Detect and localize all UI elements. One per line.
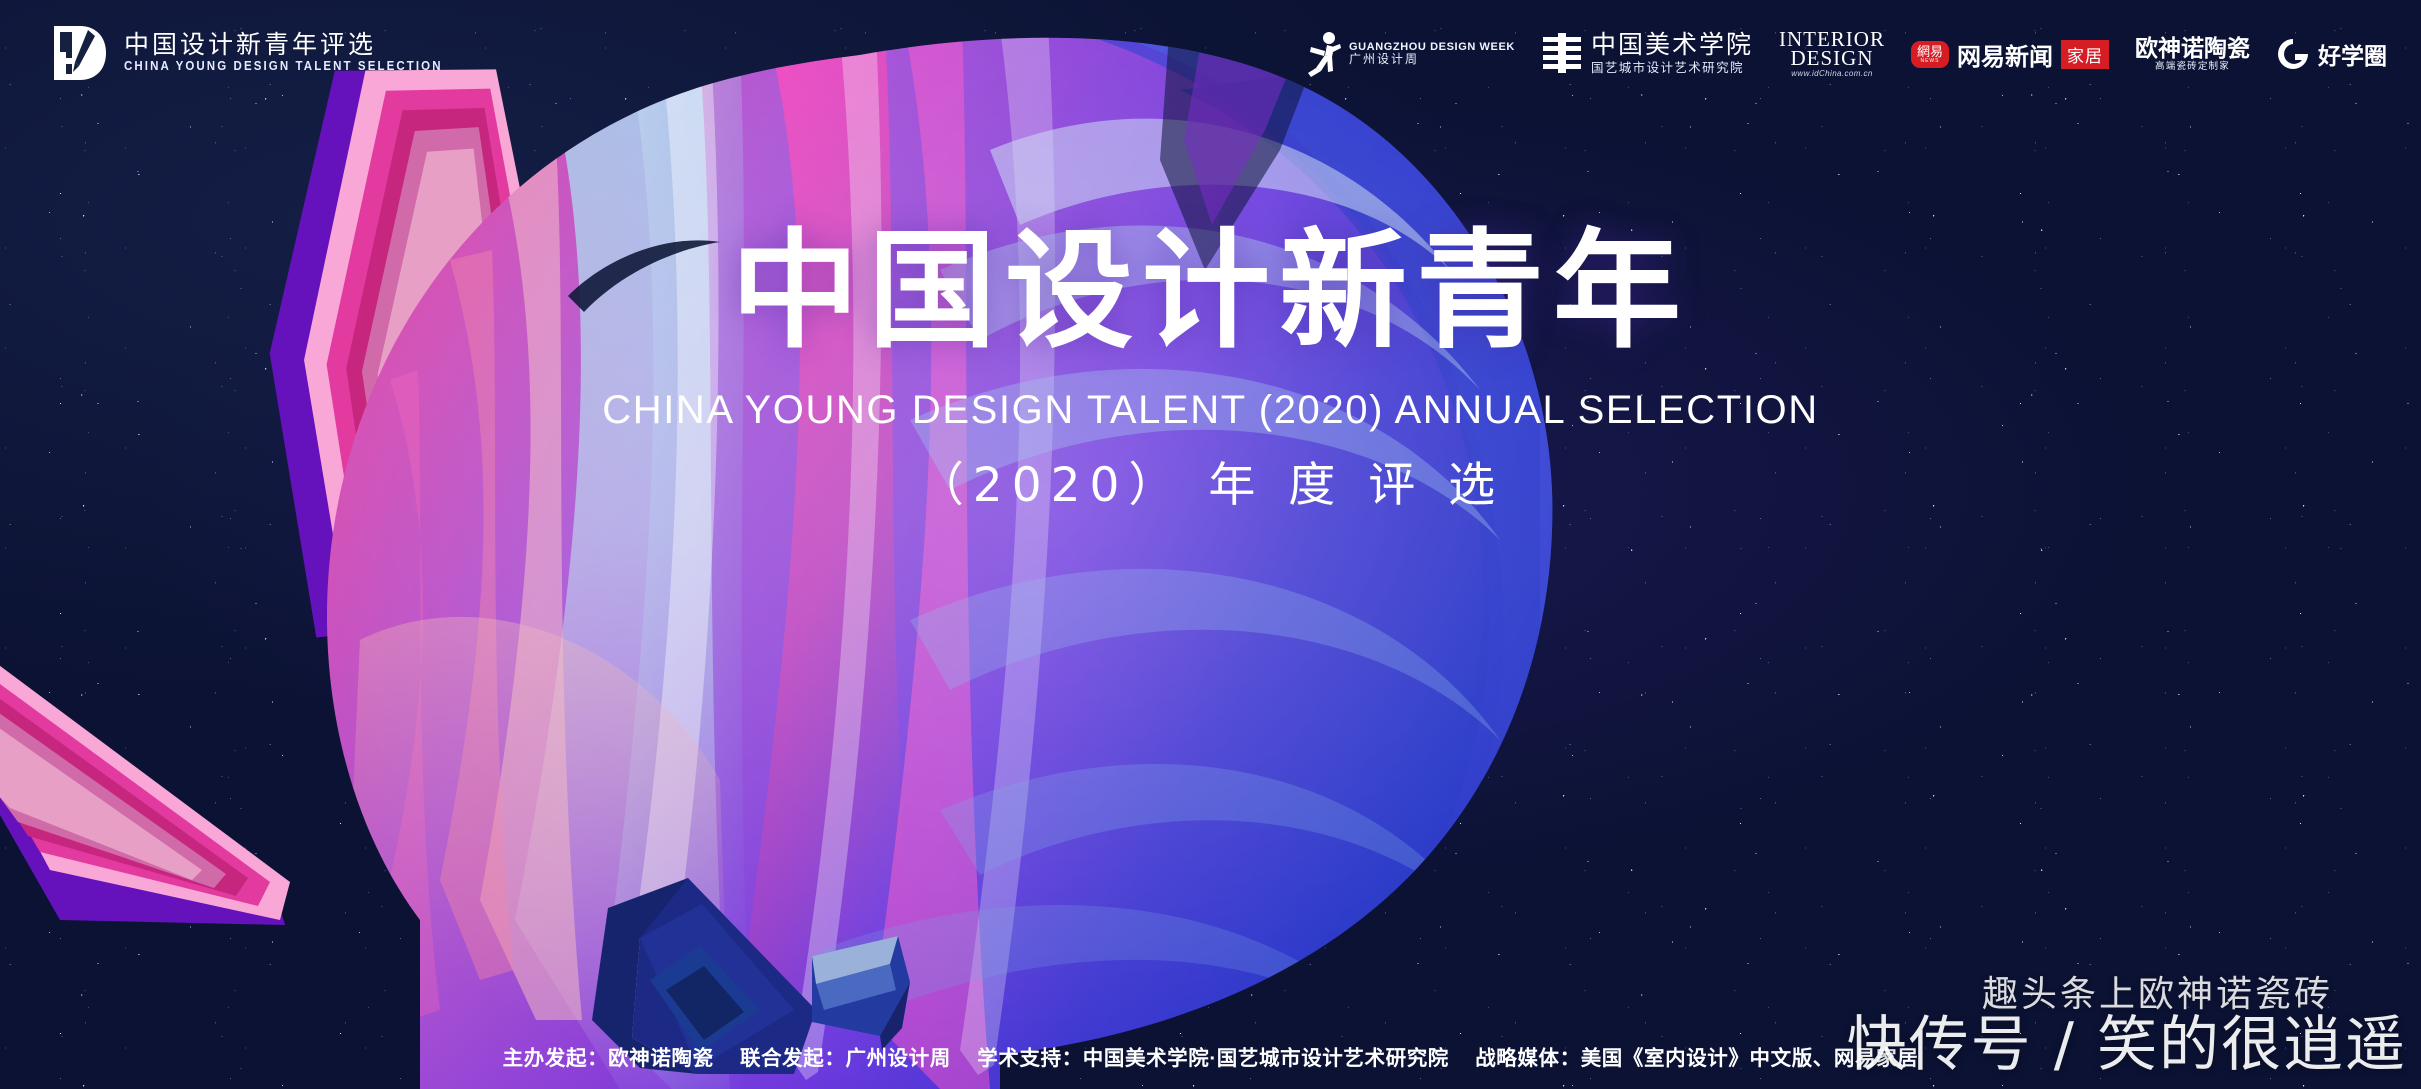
central-organic-blob	[300, 20, 1780, 1089]
brand-logo[interactable]: 中国设计新青年评选 CHINA YOUNG DESIGN TALENT SELE…	[48, 22, 443, 84]
brand-name-cn: 中国设计新青年评选	[124, 33, 443, 58]
credit-organizer: 主办发起：欧神诺陶瓷	[503, 1047, 714, 1070]
brand-text-block: 中国设计新青年评选 CHINA YOUNG DESIGN TALENT SELE…	[124, 33, 443, 73]
partner-china-academy-of-art[interactable]: 中国美术学院 国艺城市设计艺术研究院	[1541, 18, 1753, 90]
partner-line2: DESIGN	[1790, 49, 1873, 68]
credit-academic-support: 学术支持：中国美术学院·国艺城市设计艺术研究院	[977, 1047, 1449, 1070]
netease-badge-en: NEWS	[1920, 59, 1939, 64]
netease-name: 网易新闻	[1957, 37, 2053, 72]
hero-title-cn: 中国设计新青年	[0, 228, 2421, 356]
partner-cn-main: 中国美术学院	[1591, 32, 1753, 61]
credit-co-organizer: 联合发起：广州设计周	[740, 1047, 951, 1070]
g-circle-icon	[2276, 37, 2310, 71]
partner-cn-sub: 国艺城市设计艺术研究院	[1591, 61, 1753, 75]
partner-haoxuequan[interactable]: 好学圈	[2276, 18, 2387, 90]
brand-d-mark-icon	[48, 22, 110, 84]
watermark-primary: 快传号 / 笑的很逍遥	[1847, 996, 2407, 1083]
partner-logos-strip: GUANGZHOU DESIGN WEEK 广州设计周 中国美术学院 国艺城市设…	[1307, 18, 2387, 90]
partner-cn-label: 广州设计周	[1349, 53, 1515, 67]
netease-badge-cn: 網易	[1917, 45, 1943, 58]
partner-interior-design[interactable]: INTERIOR DESIGN www.idChina.com.cn	[1779, 18, 1885, 90]
netease-home-tag: 家居	[2061, 40, 2109, 69]
poster-canvas: 中国设计新青年评选 CHINA YOUNG DESIGN TALENT SELE…	[0, 0, 2421, 1089]
hero-subtitle-cn: （2020） 年 度 评 选	[0, 462, 2421, 509]
netease-badge-icon: 網易 NEWS	[1911, 41, 1949, 68]
oceano-name: 欧神诺陶瓷	[2135, 35, 2250, 61]
hero-text-block: 中国设计新青年 CHINA YOUNG DESIGN TALENT (2020)…	[0, 228, 2421, 509]
brand-name-en: CHINA YOUNG DESIGN TALENT SELECTION	[124, 61, 443, 74]
trigram-icon	[1541, 31, 1583, 77]
partner-oceano[interactable]: 欧神诺陶瓷 高端瓷砖定制家	[2135, 18, 2250, 90]
hero-title-en: CHINA YOUNG DESIGN TALENT (2020) ANNUAL …	[0, 390, 2421, 430]
oceano-slogan: 高端瓷砖定制家	[2155, 62, 2230, 73]
partner-netease-news[interactable]: 網易 NEWS 网易新闻 家居	[1911, 18, 2109, 90]
haoxuequan-name: 好学圈	[2318, 37, 2387, 71]
runner-icon	[1307, 31, 1341, 77]
partner-guangzhou-design-week[interactable]: GUANGZHOU DESIGN WEEK 广州设计周	[1307, 18, 1515, 90]
partner-url: www.idChina.com.cn	[1791, 69, 1872, 78]
